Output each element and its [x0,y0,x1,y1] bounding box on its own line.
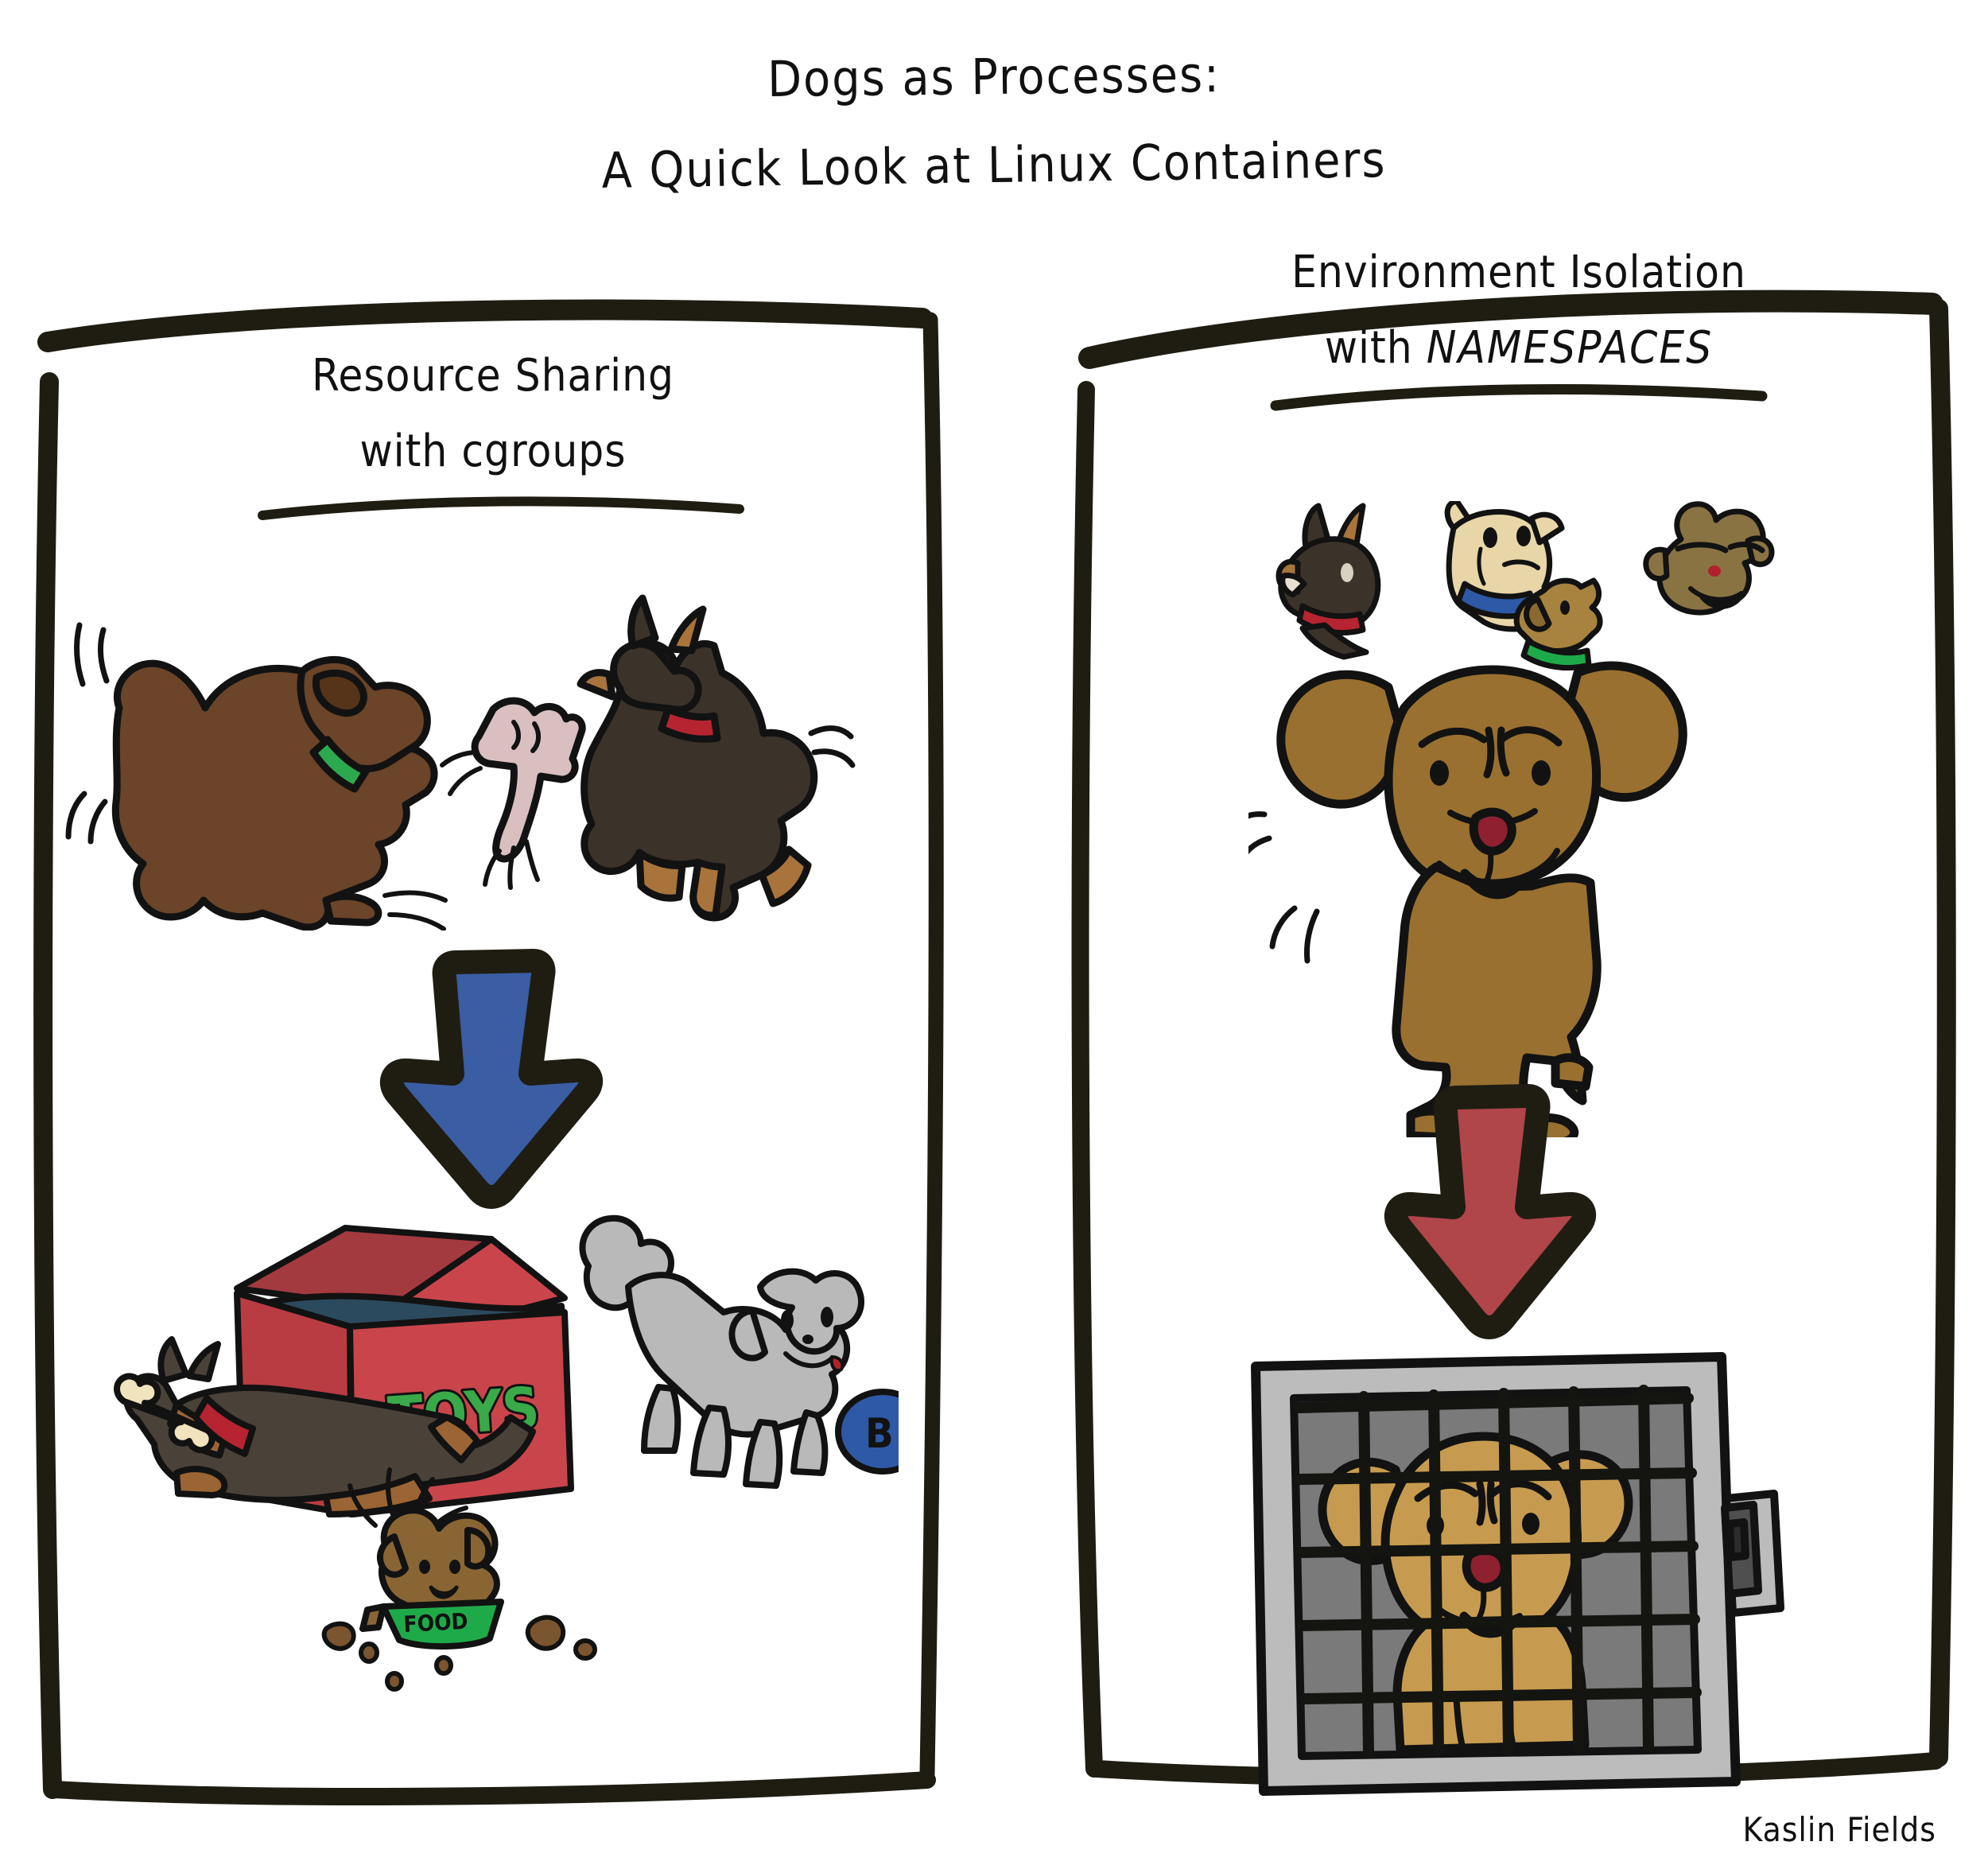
right-heading-underline [1264,382,1773,414]
title-line-1: Dogs as Processes: [0,37,1988,116]
panel-resource-sharing: Resource Sharing with cgroups [16,262,970,1837]
dog-crate [1237,1352,1801,1797]
arrow-down-blue [378,946,608,1209]
big-brown-dog [1248,644,1821,1137]
panel-environment-isolation: Environment Isolation with NAMESPACES [1066,262,1972,1837]
thumb-doberman-head [1279,506,1378,657]
comic-title: Dogs as Processes: A Quick Look at Linux… [0,48,1988,194]
title-line-2: A Quick Look at Linux Containers [0,122,1988,208]
crate-latch [1725,1494,1780,1613]
artist-credit: Kaslin Fields [1743,1810,1936,1849]
ball-label: B [865,1410,894,1458]
left-heading-underline [254,493,747,525]
scene-tug-of-war [64,589,859,931]
thumb-brown-dog-face [1646,504,1772,612]
arrow-down-red [1384,1082,1598,1344]
scene-shared-resources: TOYS [87,1193,899,1702]
food-bowl-label: FOOD [403,1608,469,1638]
